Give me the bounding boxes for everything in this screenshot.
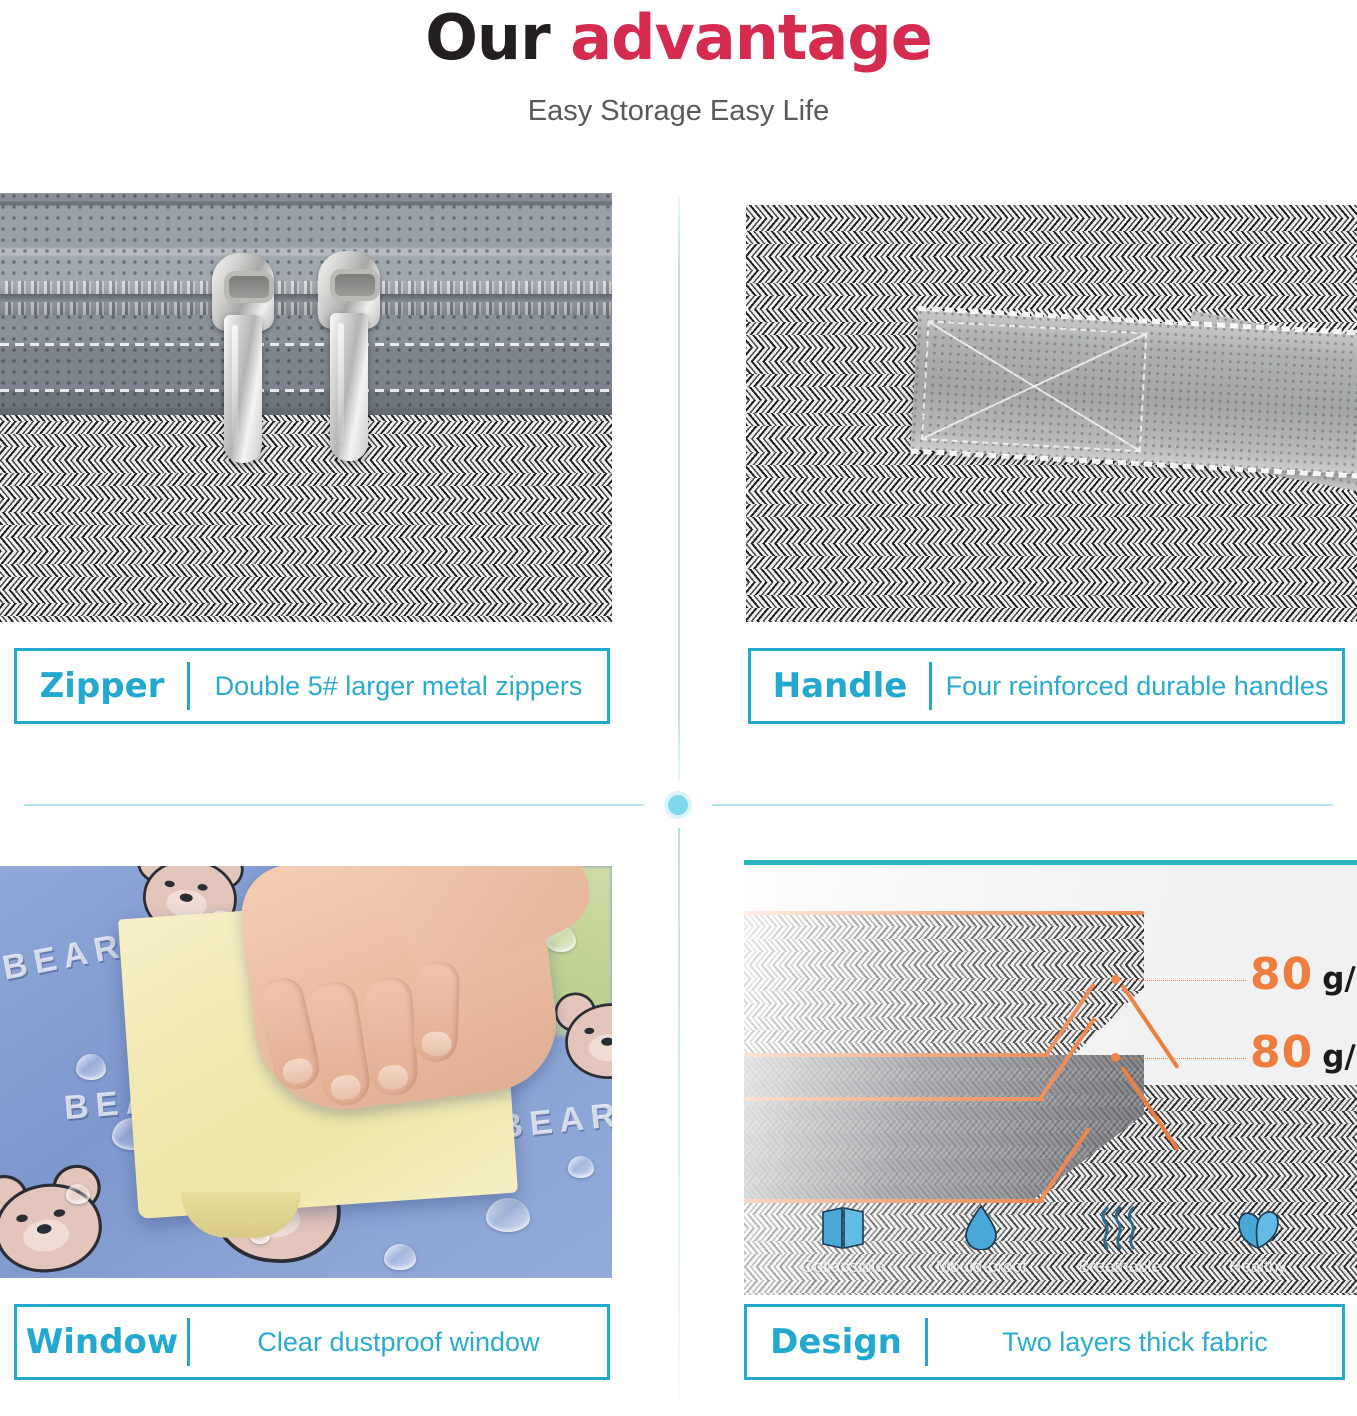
page-header: Our advantage Easy Storage Easy Life — [0, 0, 1357, 175]
divider-vertical-top — [678, 196, 680, 782]
folded-box-icon — [788, 1188, 898, 1250]
measurement-value: 80 — [1250, 949, 1313, 1000]
teddy-bear-motif — [0, 1161, 113, 1278]
property-mould-proof: Mould-proof — [926, 1188, 1036, 1277]
feature-label-title: Zipper — [17, 666, 187, 706]
feature-label-title: Handle — [751, 666, 929, 706]
water-drop-icon — [926, 1188, 1036, 1250]
divider-horizontal-left — [24, 804, 644, 806]
divider-center-dot — [668, 795, 688, 815]
steam-waves-icon — [1065, 1188, 1175, 1250]
zipper-teeth — [0, 281, 612, 315]
handle-strap — [910, 310, 1357, 477]
property-icon-row: Collapsible Mould-proof — [774, 1188, 1327, 1277]
page-subtitle: Easy Storage Easy Life — [0, 95, 1357, 128]
zipper-fabric-backdrop — [0, 408, 612, 622]
property-label: Collapsible — [788, 1257, 898, 1277]
feature-label-title: Window — [17, 1322, 187, 1362]
leaves-icon — [1203, 1188, 1313, 1250]
measurement-unit: g/m2 — [1322, 1039, 1357, 1075]
property-label: Mould-proof — [926, 1257, 1036, 1277]
window-photo: BEAR BEAR BEAR — [0, 866, 612, 1278]
measurement-value: 80 — [1250, 1027, 1313, 1078]
feature-label-handle: Handle Four reinforced durable handles — [748, 648, 1345, 724]
measurement-upper: 80g/m2 — [1250, 949, 1357, 1000]
layer-outline-lower-top — [744, 1053, 1050, 1057]
feature-image-design: 80g/m2 80g/m2 Collapsible — [744, 860, 1357, 1295]
water-droplet — [384, 1244, 416, 1270]
measurement-unit: g/m2 — [1322, 961, 1357, 997]
property-label: Breathable — [1065, 1257, 1175, 1277]
herringbone-texture — [0, 408, 612, 622]
feature-label-description: Clear dustproof window — [190, 1327, 607, 1358]
zipper-tape — [0, 193, 612, 415]
page-title-primary: Our — [425, 1, 570, 74]
layer-outline-upper-bottom — [744, 1097, 1044, 1101]
property-label: Healthy — [1203, 1257, 1313, 1277]
feature-label-description: Two layers thick fabric — [928, 1327, 1342, 1358]
property-breathable: Breathable — [1065, 1188, 1175, 1277]
property-healthy: Healthy — [1203, 1188, 1313, 1277]
feature-label-title: Design — [747, 1322, 925, 1362]
feature-image-zipper — [0, 193, 612, 622]
divider-vertical-bottom — [678, 828, 680, 1398]
feature-label-design: Design Two layers thick fabric — [744, 1304, 1345, 1380]
feature-image-handle — [746, 205, 1357, 622]
feature-label-description: Four reinforced durable handles — [932, 671, 1342, 702]
water-droplet — [66, 1184, 90, 1204]
water-droplet — [486, 1198, 530, 1232]
measurement-lower: 80g/m2 — [1250, 1027, 1357, 1078]
callout-leader-lower — [1118, 1058, 1246, 1059]
design-diagram: 80g/m2 80g/m2 Collapsible — [744, 865, 1357, 1295]
teddy-bear-motif — [552, 988, 612, 1080]
human-hand — [236, 866, 564, 1119]
zipper-photo — [0, 193, 612, 622]
handle-photo — [746, 205, 1357, 622]
water-droplet — [568, 1156, 594, 1178]
callout-leader-upper — [1118, 980, 1246, 981]
property-collapsible: Collapsible — [788, 1188, 898, 1277]
feature-label-description: Double 5# larger metal zippers — [190, 671, 607, 702]
page-title: Our advantage — [0, 2, 1357, 74]
layer-outline-upper-top — [744, 911, 1144, 915]
feature-label-zipper: Zipper Double 5# larger metal zippers — [14, 648, 610, 724]
handle-stitch-reinforcement — [921, 320, 1147, 452]
page-title-accent: advantage — [570, 1, 932, 74]
feature-image-window: BEAR BEAR BEAR — [0, 866, 612, 1278]
feature-label-window: Window Clear dustproof window — [14, 1304, 610, 1380]
divider-horizontal-right — [712, 804, 1333, 806]
water-droplet — [76, 1054, 106, 1080]
